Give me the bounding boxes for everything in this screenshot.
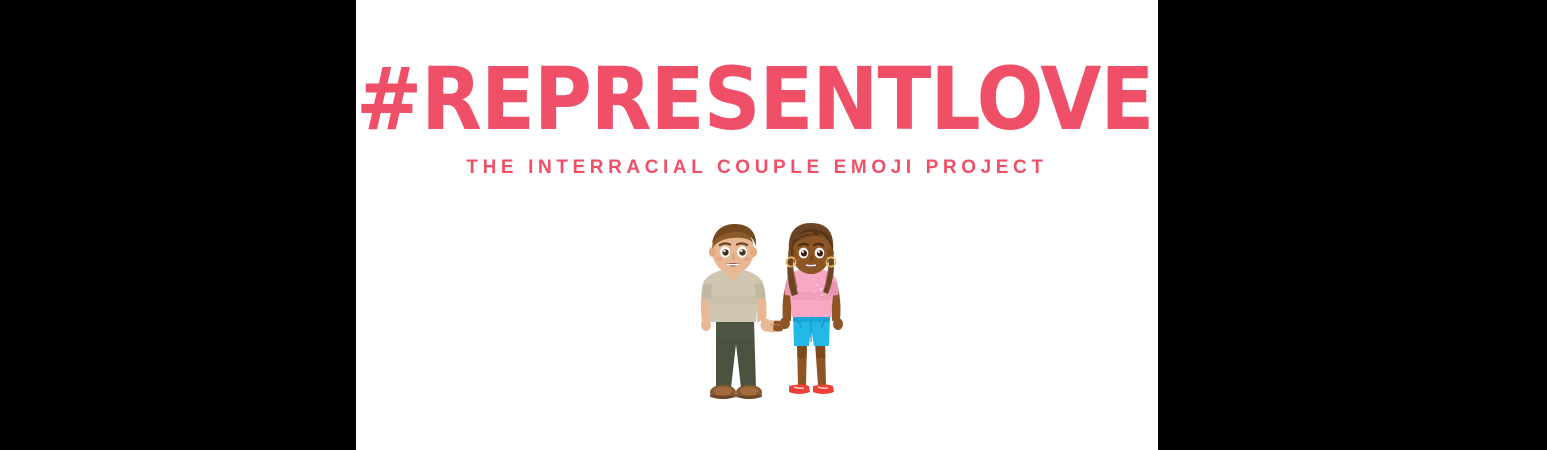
letterbox-bar-left [0,0,356,450]
letterbox-bar-right [1158,0,1547,450]
page-title: #REPRESENTLOVE [356,56,1158,144]
poster-stage: #REPRESENTLOVE THE INTERRACIAL COUPLE EM… [0,0,1547,450]
couple-holding-hands-icon [686,222,871,417]
page-subtitle: THE INTERRACIAL COUPLE EMOJI PROJECT [356,156,1158,180]
poster-canvas: #REPRESENTLOVE THE INTERRACIAL COUPLE EM… [356,0,1158,450]
